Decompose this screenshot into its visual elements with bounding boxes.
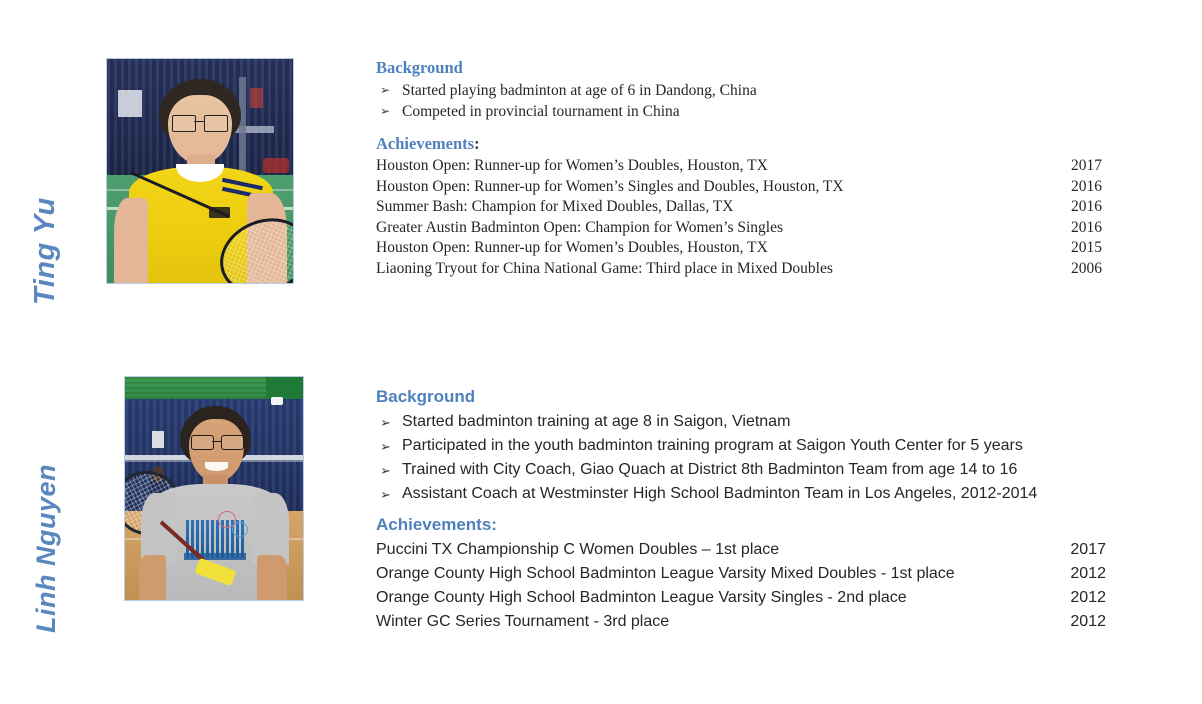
table-row: Liaoning Tryout for China National Game:… bbox=[376, 259, 1102, 280]
achievement-description: Puccini TX Championship C Women Doubles … bbox=[376, 538, 779, 562]
profile-photo-linh-nguyen bbox=[124, 376, 304, 601]
profile-photo-ting-yu bbox=[106, 58, 294, 284]
list-item: Started playing badminton at age of 6 in… bbox=[376, 80, 1102, 101]
photo-glasses-bridge bbox=[212, 441, 221, 442]
achievement-year: 2016 bbox=[1050, 218, 1102, 239]
table-row: Winter GC Series Tournament - 3rd place … bbox=[376, 610, 1106, 634]
photo-wall-plate bbox=[152, 431, 164, 449]
achievement-description: Liaoning Tryout for China National Game:… bbox=[376, 259, 833, 280]
achievements-heading-colon: : bbox=[491, 515, 497, 534]
achievement-description: Houston Open: Runner-up for Women’s Doub… bbox=[376, 156, 768, 177]
achievement-description: Houston Open: Runner-up for Women’s Doub… bbox=[376, 238, 768, 259]
achievement-year: 2016 bbox=[1050, 197, 1102, 218]
profile-details-linh-nguyen: Background Started badminton training at… bbox=[376, 386, 1106, 634]
achievements-list: Puccini TX Championship C Women Doubles … bbox=[376, 538, 1106, 634]
list-item: Participated in the youth badminton trai… bbox=[376, 434, 1106, 458]
achievement-description: Orange County High School Badminton Leag… bbox=[376, 562, 955, 586]
table-row: Houston Open: Runner-up for Women’s Sing… bbox=[376, 177, 1102, 198]
photo-glasses-bridge bbox=[194, 121, 203, 122]
achievement-year: 2015 bbox=[1050, 238, 1102, 259]
photo-wall-sign bbox=[271, 397, 283, 405]
background-heading: Background bbox=[376, 386, 1106, 407]
photo-person-arm-left bbox=[114, 198, 147, 283]
background-list: Started playing badminton at age of 6 in… bbox=[376, 80, 1102, 122]
background-list: Started badminton training at age 8 in S… bbox=[376, 410, 1106, 506]
achievement-year: 2016 bbox=[1050, 177, 1102, 198]
table-row: Orange County High School Badminton Leag… bbox=[376, 562, 1106, 586]
table-row: Greater Austin Badminton Open: Champion … bbox=[376, 218, 1102, 239]
photo-person-arm-right bbox=[257, 555, 287, 600]
photo-glasses-right bbox=[221, 435, 244, 450]
achievement-year: 2012 bbox=[1054, 610, 1106, 634]
photo-person-smile bbox=[205, 462, 228, 471]
list-item: Trained with City Coach, Giao Quach at D… bbox=[376, 458, 1106, 482]
photo-wall-post bbox=[239, 77, 246, 185]
table-row: Orange County High School Badminton Leag… bbox=[376, 586, 1106, 610]
achievement-description: Winter GC Series Tournament - 3rd place bbox=[376, 610, 669, 634]
table-row: Houston Open: Runner-up for Women’s Doub… bbox=[376, 156, 1102, 177]
achievements-list: Houston Open: Runner-up for Women’s Doub… bbox=[376, 156, 1102, 279]
achievements-heading-text: Achievements bbox=[376, 515, 491, 534]
photo-wall-panel-right bbox=[250, 88, 263, 108]
achievement-year: 2012 bbox=[1054, 562, 1106, 586]
achievement-year: 2006 bbox=[1050, 259, 1102, 280]
photo-glasses-right bbox=[204, 115, 228, 132]
achievements-heading-colon: : bbox=[474, 134, 480, 153]
table-row: Houston Open: Runner-up for Women’s Doub… bbox=[376, 238, 1102, 259]
achievement-description: Houston Open: Runner-up for Women’s Sing… bbox=[376, 177, 844, 198]
achievements-heading: Achievements: bbox=[376, 134, 1102, 154]
table-row: Summer Bash: Champion for Mixed Doubles,… bbox=[376, 197, 1102, 218]
achievement-year: 2012 bbox=[1054, 586, 1106, 610]
list-item: Competed in provincial tournament in Chi… bbox=[376, 101, 1102, 122]
list-item: Started badminton training at age 8 in S… bbox=[376, 410, 1106, 434]
achievement-year: 2017 bbox=[1050, 156, 1102, 177]
photo-glasses-left bbox=[172, 115, 196, 132]
photo-person-arm-left bbox=[139, 555, 166, 600]
achievement-year: 2017 bbox=[1054, 538, 1106, 562]
section-gap bbox=[376, 122, 1102, 134]
photo-glasses-left bbox=[191, 435, 214, 450]
list-item: Assistant Coach at Westminster High Scho… bbox=[376, 482, 1106, 506]
profile-details-ting-yu: Background Started playing badminton at … bbox=[376, 58, 1102, 279]
table-row: Puccini TX Championship C Women Doubles … bbox=[376, 538, 1106, 562]
profile-name-linh-nguyen: Linh Nguyen bbox=[31, 464, 62, 633]
photo-wall-panel-left bbox=[118, 90, 142, 117]
achievement-description: Greater Austin Badminton Open: Champion … bbox=[376, 218, 783, 239]
achievements-heading: Achievements: bbox=[376, 514, 1106, 535]
background-heading: Background bbox=[376, 58, 1102, 78]
document-page: Ting Yu Background Started playing badmi… bbox=[0, 0, 1202, 704]
photo-court-equipment bbox=[263, 158, 289, 174]
achievements-heading-text: Achievements bbox=[376, 134, 474, 153]
achievement-description: Orange County High School Badminton Leag… bbox=[376, 586, 907, 610]
achievement-description: Summer Bash: Champion for Mixed Doubles,… bbox=[376, 197, 733, 218]
photo-shirt-sleeve-right bbox=[253, 493, 289, 564]
profile-name-ting-yu: Ting Yu bbox=[29, 197, 62, 305]
